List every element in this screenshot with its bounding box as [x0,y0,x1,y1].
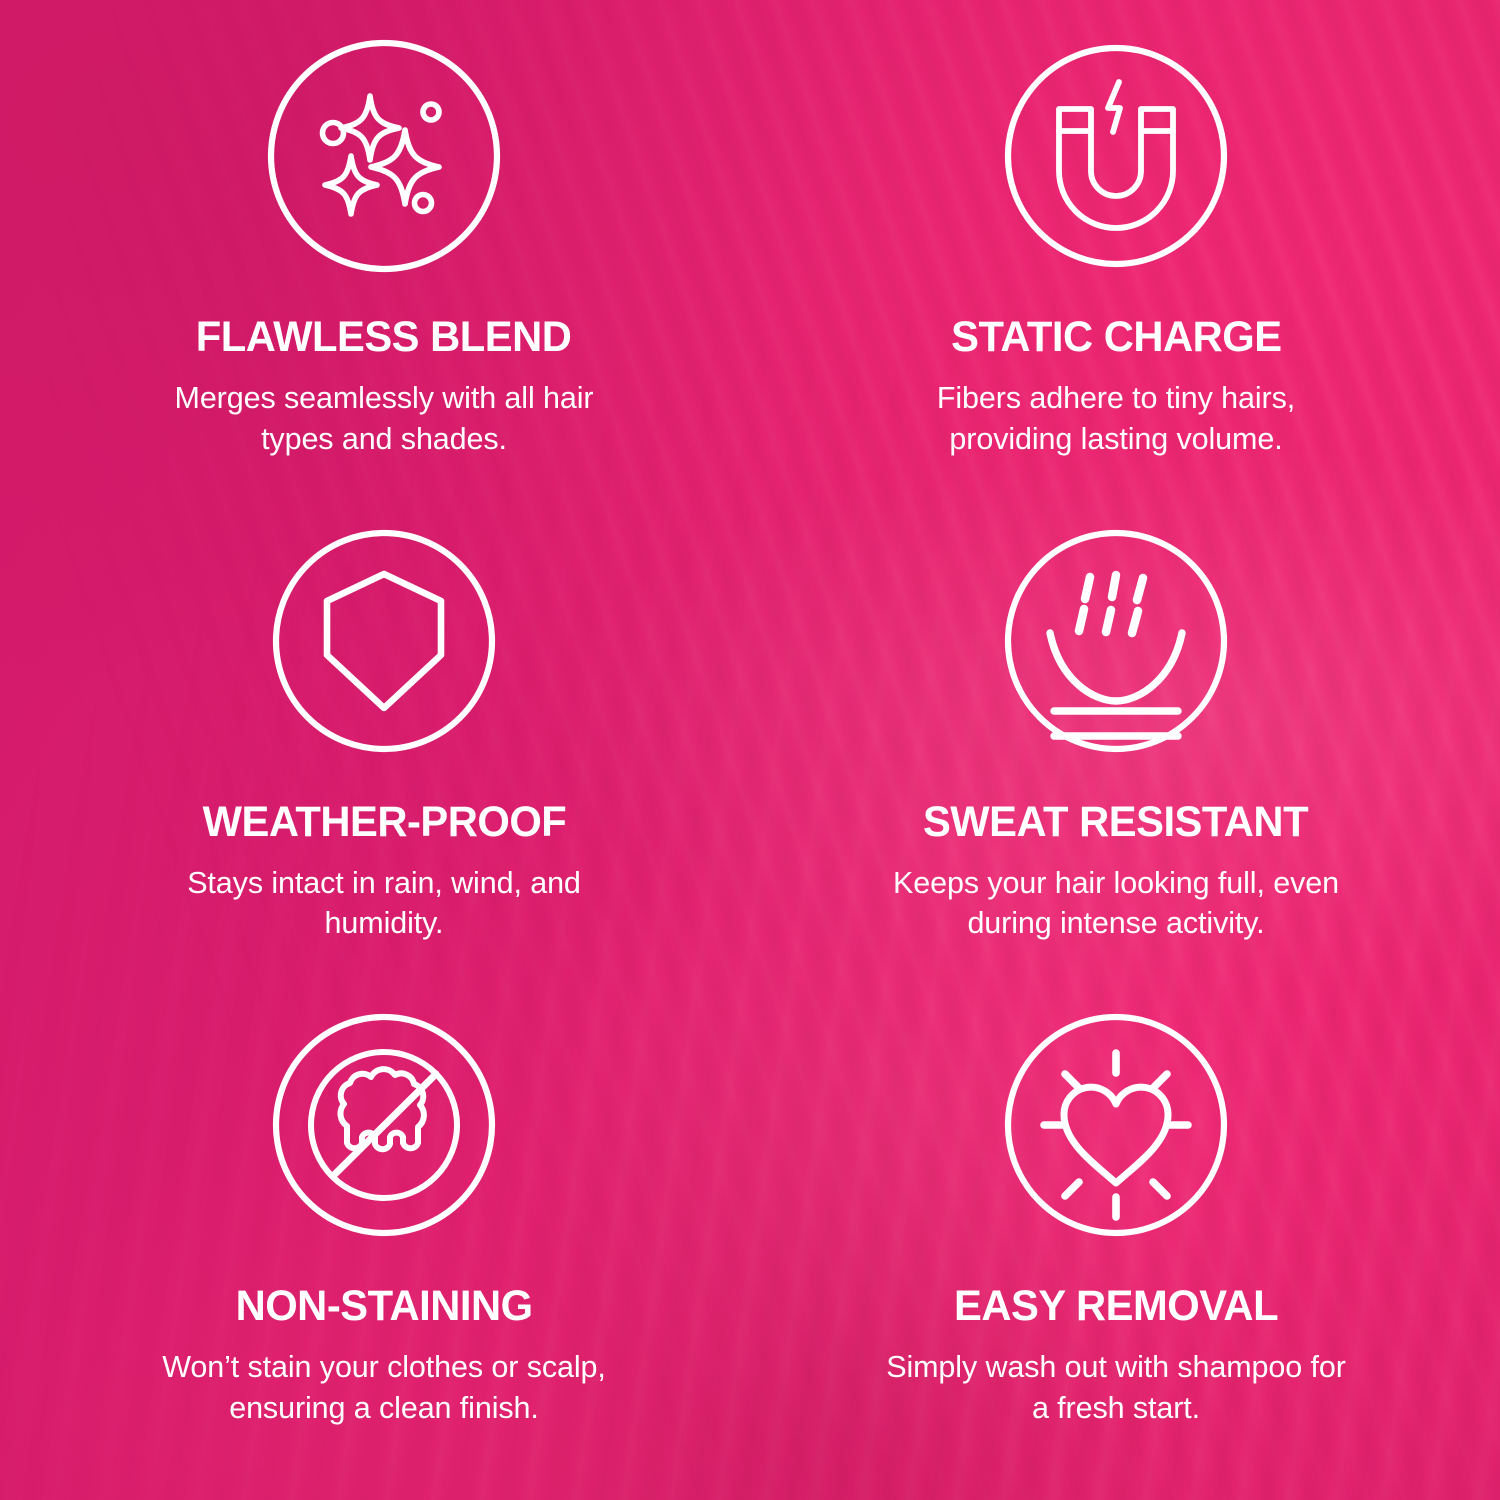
magnet-static-charge-icon [998,38,1234,274]
feature-description: Merges seamlessly with all hair types an… [149,378,619,459]
shield-icon [266,523,502,759]
feature-card-sweat-resistant: SWEAT RESISTANT Keeps your hair looking … [750,511,1482,996]
feature-description: Fibers adhere to tiny hairs, providing l… [881,378,1351,459]
feature-card-static-charge: STATIC CHARGE Fibers adhere to tiny hair… [750,26,1482,511]
feature-title: EASY REMOVAL [954,1285,1278,1328]
feature-description: Keeps your hair looking full, even durin… [881,863,1351,944]
shining-heart-icon [998,1007,1234,1243]
feature-description: Won’t stain your clothes or scalp, ensur… [149,1347,619,1428]
feature-description: Simply wash out with shampoo for a fresh… [881,1347,1351,1428]
water-repellent-fabric-icon [998,523,1234,759]
feature-grid-banner: FLAWLESS BLEND Merges seamlessly with al… [0,0,1500,1500]
no-stain-icon [266,1007,502,1243]
feature-description: Stays intact in rain, wind, and humidity… [149,863,619,944]
feature-card-flawless-blend: FLAWLESS BLEND Merges seamlessly with al… [18,26,750,511]
sparkles-icon [266,38,502,274]
feature-card-non-staining: NON-STAINING Won’t stain your clothes or… [18,995,750,1480]
feature-title: FLAWLESS BLEND [196,316,572,359]
feature-card-weather-proof: WEATHER-PROOF Stays intact in rain, wind… [18,511,750,996]
features-grid: FLAWLESS BLEND Merges seamlessly with al… [0,0,1500,1500]
feature-title: NON-STAINING [236,1285,533,1328]
feature-title: SWEAT RESISTANT [923,801,1308,844]
feature-card-easy-removal: EASY REMOVAL Simply wash out with shampo… [750,995,1482,1480]
feature-title: STATIC CHARGE [951,316,1281,359]
feature-title: WEATHER-PROOF [202,801,566,844]
